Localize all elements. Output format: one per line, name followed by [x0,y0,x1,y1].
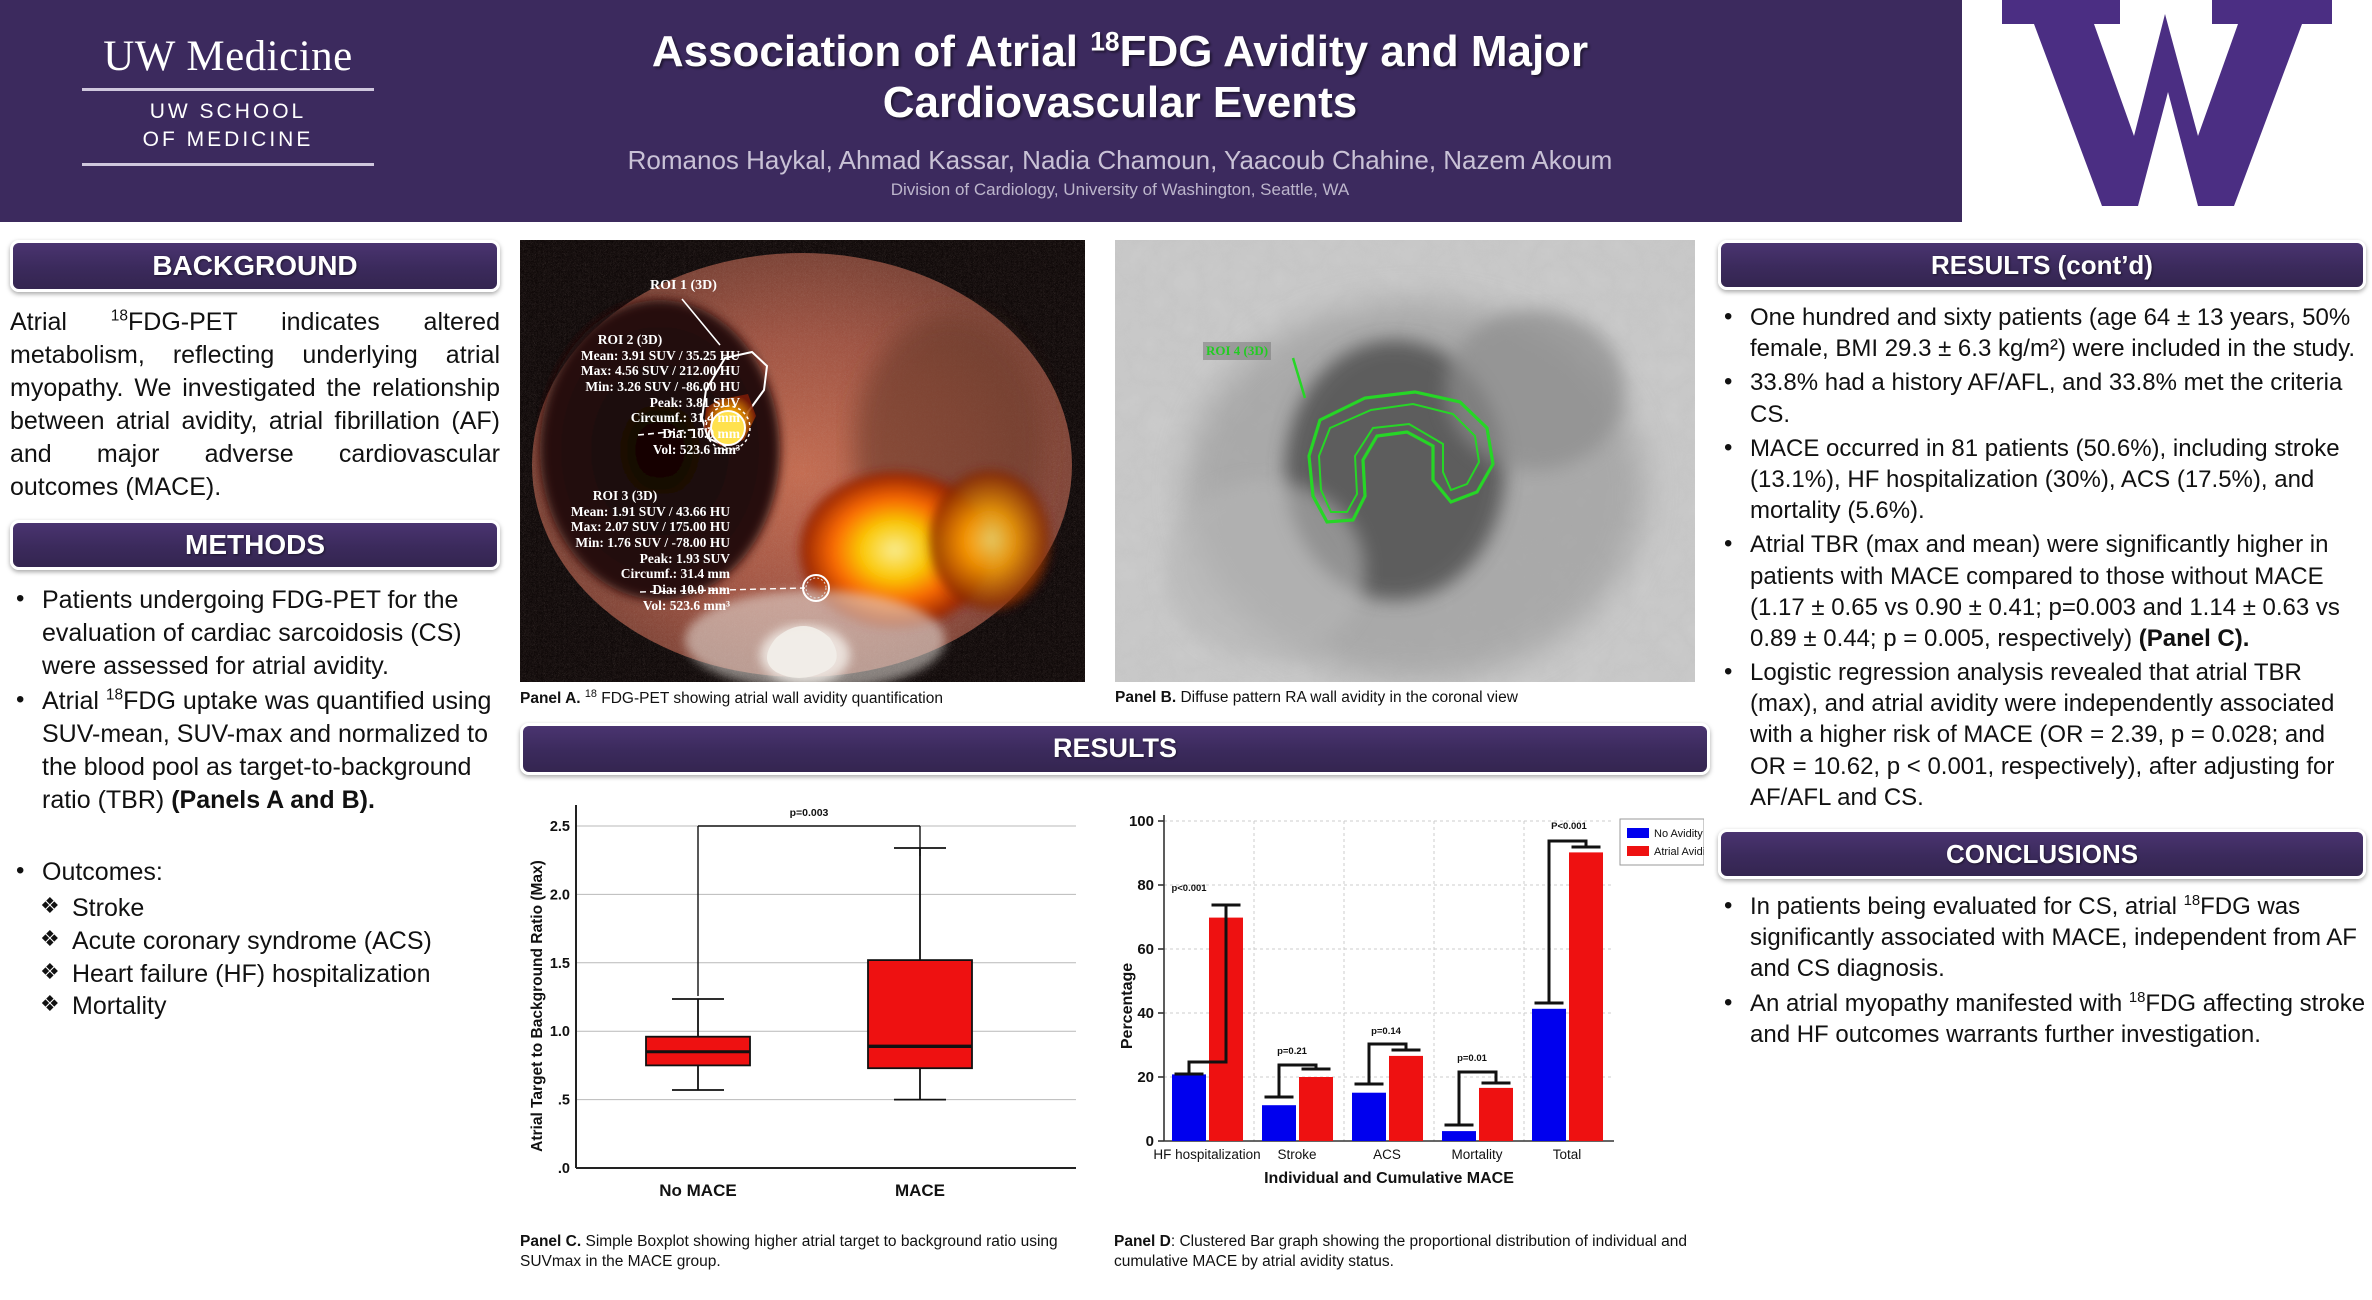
panel-d-chart: Percentage [1114,791,1704,1272]
roi3-max: Max: 2.07 SUV / 175.00 HU [520,519,730,535]
svg-text:20: 20 [1137,1069,1154,1086]
logo-divider-bottom [82,163,374,166]
methods-superscript-18: 18 [106,687,123,704]
roi2-title: ROI 2 (3D) [520,332,740,348]
panel-b-pet-image: ROI 4 (3D) [1115,240,1695,682]
results-bullet-5: Logistic regression analysis revealed th… [1718,657,2366,813]
svg-text:2.0: 2.0 [550,887,570,903]
svg-text:.5: .5 [558,1092,570,1108]
section-header-results-cont: RESULTS (cont’d) [1718,240,2366,290]
panel-a-wrapper: ROI 1 (3D) ROI 2 (3D) Mean: 3.91 SUV / 3… [520,240,1085,709]
roi2-circumf: Circumf.: 31.4 mm [520,410,740,426]
panel-d-caption: Panel D: Clustered Bar graph showing the… [1114,1232,1704,1272]
panel-d-p-hf: p<0.001 [1171,883,1207,894]
outcomes-sub-list: Stroke Acute coronary syndrome (ACS) Hea… [38,892,500,1023]
uw-medicine-wordmark: UW Medicine [78,32,378,81]
title-block: Association of Atrial 18FDG Avidity and … [520,26,1720,200]
roi3-mean: Mean: 1.91 SUV / 43.66 HU [520,504,730,520]
title-superscript-18: 18 [1090,26,1119,56]
panel-c-ylabel: Atrial Target to Background Ratio (Max) [529,860,546,1152]
methods-bullet-2-a: Atrial [42,687,106,715]
roi2-mean: Mean: 3.91 SUV / 35.25 HU [520,348,740,364]
methods-bullet-1: Patients undergoing FDG-PET for the eval… [10,584,500,682]
panel-b-caption: Panel B. Diffuse pattern RA wall avidity… [1115,688,1695,707]
roi3-vol: Vol: 523.6 mm³ [520,598,730,614]
outcome-item-acs: Acute coronary syndrome (ACS) [38,925,500,958]
roi2-vol: Vol: 523.6 mm³ [520,442,740,458]
panel-c-caption-bold: Panel C. [520,1233,581,1250]
section-header-conclusions: CONCLUSIONS [1718,829,2366,879]
poster-header: UW Medicine UW SCHOOL OF MEDICINE Associ… [0,0,1962,222]
methods-panels-ref: (Panels A and B). [171,786,375,814]
panel-a-caption-sup: 18 [585,688,597,700]
legend-label-atrial-avidity: Atrial Avidity [1654,846,1704,858]
section-header-methods: METHODS [10,520,500,570]
panel-c-xtick-mace: MACE [895,1181,945,1200]
panel-c-box-mace [868,848,972,1100]
panel-a-caption: Panel A. 18 FDG-PET showing atrial wall … [520,688,1085,709]
svg-text:.0: .0 [558,1161,570,1177]
section-header-results: RESULTS [520,723,1710,775]
legend-swatch-no-avidity [1627,828,1649,838]
title-part-1: Association of Atrial [652,27,1090,76]
bar-stroke-no-avidity [1262,1105,1296,1141]
outcomes-label: Outcomes: [10,856,500,889]
boxplot-svg: Atrial Target to Background Ratio (Max) [520,791,1100,1221]
panel-d-p-mortality: p=0.01 [1457,1053,1488,1064]
results-bullet-3: MACE occurred in 81 patients (50.6%), in… [1718,433,2366,527]
bar-total-atrial-avidity [1569,852,1603,1141]
panel-d-caption-rest: : Clustered Bar graph showing the propor… [1114,1233,1687,1270]
panel-c-pvalue-label: p=0.003 [790,807,829,819]
svg-text:ACS: ACS [1373,1147,1401,1162]
uw-school-line1: UW SCHOOL [78,100,378,124]
results-cont-bullet-list: One hundred and sixty patients (age 64 ±… [1718,302,2366,813]
results-bullet-1: One hundred and sixty patients (age 64 ±… [1718,302,2366,364]
uw-w-logo-box [1962,0,2372,222]
svg-text:60: 60 [1137,941,1154,958]
panel-b-wrapper: ROI 4 (3D) Panel B. Diffuse pattern RA w… [1115,240,1695,709]
poster-root: UW Medicine UW SCHOOL OF MEDICINE Associ… [0,0,2372,1300]
roi2-dia: Dia: 10.0 mm [520,426,740,442]
roi3-title: ROI 3 (3D) [520,488,730,504]
svg-text:100: 100 [1129,813,1154,830]
bar-total-no-avidity [1532,1008,1566,1140]
panel-b-caption-bold: Panel B. [1115,689,1176,706]
svg-text:Mortality: Mortality [1451,1147,1502,1162]
panel-a-caption-bold: Panel A. [520,690,581,707]
section-header-background: BACKGROUND [10,240,500,292]
author-list: Romanos Haykal, Ahmad Kassar, Nadia Cham… [520,145,1720,176]
uw-school-line2: OF MEDICINE [78,128,378,152]
bar-stroke-atrial-avidity [1299,1077,1333,1141]
conclusions-bullet-list: In patients being evaluated for CS, atri… [1718,891,2366,1050]
background-text-a: Atrial [10,308,111,336]
roi1-label: ROI 1 (3D) [650,278,717,294]
svg-text:1.0: 1.0 [550,1024,570,1040]
outcomes-block: Outcomes: Stroke Acute coronary syndrome… [10,856,500,1023]
charts-row: Atrial Target to Background Ratio (Max) [520,791,1710,1272]
background-superscript-18: 18 [111,308,128,325]
panel-c-chart: Atrial Target to Background Ratio (Max) [520,791,1100,1272]
coronal-pet-rendering [1115,240,1695,682]
clustered-bar-svg: Percentage [1114,791,1704,1221]
results-bullet-4: Atrial TBR (max and mean) were significa… [1718,529,2366,654]
roi2-min: Min: 3.26 SUV / -86.00 HU [520,379,740,395]
roi3-dia: Dia: 10.0 mm [520,582,730,598]
svg-text:HF hospitalization: HF hospitalization [1153,1147,1260,1162]
svg-text:Stroke: Stroke [1277,1147,1316,1162]
results-bullet-4-panel-ref: (Panel C). [2139,625,2250,652]
outcome-item-mortality: Mortality [38,990,500,1023]
methods-bullet-2: Atrial 18FDG uptake was quantified using… [10,685,500,816]
panel-c-caption: Panel C. Simple Boxplot showing higher a… [520,1232,1100,1272]
roi2-annotation-block: ROI 2 (3D) Mean: 3.91 SUV / 35.25 HU Max… [520,332,740,457]
right-column: RESULTS (cont’d) One hundred and sixty p… [1718,240,2366,1053]
svg-text:2.5: 2.5 [550,819,570,835]
legend-label-no-avidity: No Avidity [1654,828,1703,840]
poster-title: Association of Atrial 18FDG Avidity and … [520,26,1720,129]
panel-images-row: ROI 1 (3D) ROI 2 (3D) Mean: 3.91 SUV / 3… [520,240,1710,709]
svg-text:1.5: 1.5 [550,955,570,971]
title-line-2: Cardiovascular Events [883,78,1357,127]
background-text: Atrial 18FDG-PET indicates altered metab… [10,306,500,504]
conclusion-2-sup: 18 [2129,990,2146,1006]
roi4-label: ROI 4 (3D) [1203,342,1271,360]
conclusion-bullet-1: In patients being evaluated for CS, atri… [1718,891,2366,985]
bar-hf-no-avidity [1172,1074,1206,1141]
panel-d-p-acs: p=0.14 [1371,1026,1402,1037]
bar-acs-atrial-avidity [1389,1055,1423,1140]
uw-w-logo-icon [2002,0,2332,206]
left-column: BACKGROUND Atrial 18FDG-PET indicates al… [10,240,500,1023]
conclusion-bullet-2: An atrial myopathy manifested with 18FDG… [1718,988,2366,1050]
panel-d-caption-bold: Panel D [1114,1233,1171,1250]
panel-c-ytick-labels: .0 .5 1.0 1.5 2.0 2.5 [550,819,570,1177]
panel-d-ylabel: Percentage [1119,962,1136,1048]
panel-d-xtick-labels: HF hospitalization Stroke ACS Mortality … [1153,1147,1581,1162]
legend-swatch-atrial-avidity [1627,846,1649,856]
panel-d-p-stroke: p=0.21 [1277,1046,1308,1057]
pet-ct-rendering [520,240,1085,682]
panel-d-legend: No Avidity Atrial Avidity [1620,819,1704,865]
methods-bullet-list: Patients undergoing FDG-PET for the eval… [10,584,500,816]
conclusion-1-sup: 18 [2184,893,2201,909]
conclusion-1-a: In patients being evaluated for CS, atri… [1750,893,2184,920]
bar-mortality-atrial-avidity [1479,1087,1513,1140]
panel-b-caption-rest: Diffuse pattern RA wall avidity in the c… [1176,689,1518,706]
panel-d-p-total: P<0.001 [1551,821,1587,832]
roi2-peak: Peak: 3.81 SUV [520,395,740,411]
bar-mortality-no-avidity [1442,1131,1476,1141]
roi2-max: Max: 4.56 SUV / 212.00 HU [520,363,740,379]
panel-d-xlabel: Individual and Cumulative MACE [1264,1170,1514,1187]
svg-text:Total: Total [1553,1147,1582,1162]
bar-acs-no-avidity [1352,1092,1386,1140]
results-bullet-2: 33.8% had a history AF/AFL, and 33.8% me… [1718,367,2366,429]
svg-text:80: 80 [1137,877,1154,894]
affiliation: Division of Cardiology, University of Wa… [520,180,1720,200]
panel-a-caption-rest: FDG-PET showing atrial wall avidity quan… [597,690,943,707]
title-part-2: FDG Avidity and Major [1120,27,1589,76]
outcomes-bullet-list: Outcomes: [10,856,500,889]
roi3-min: Min: 1.76 SUV / -78.00 HU [520,535,730,551]
roi3-circumf: Circumf.: 31.4 mm [520,566,730,582]
svg-text:40: 40 [1137,1005,1154,1022]
uw-medicine-logo: UW Medicine UW SCHOOL OF MEDICINE [78,32,378,166]
panel-c-caption-rest: Simple Boxplot showing higher atrial tar… [520,1233,1058,1270]
outcome-item-stroke: Stroke [38,892,500,925]
outcome-item-hf: Heart failure (HF) hospitalization [38,958,500,991]
roi3-annotation-block: ROI 3 (3D) Mean: 1.91 SUV / 43.66 HU Max… [520,488,730,613]
conclusion-2-a: An atrial myopathy manifested with [1750,990,2129,1017]
panel-c-box-no-mace [646,999,750,1090]
logo-divider-top [82,88,374,91]
panel-d-y-ticks [1158,821,1164,1141]
background-text-b: FDG-PET indicates altered metabolism, re… [10,308,500,501]
roi3-peak: Peak: 1.93 SUV [520,551,730,567]
panel-c-xtick-no-mace: No MACE [659,1181,736,1200]
center-column: ROI 1 (3D) ROI 2 (3D) Mean: 3.91 SUV / 3… [520,240,1710,1272]
panel-a-pet-image: ROI 1 (3D) ROI 2 (3D) Mean: 3.91 SUV / 3… [520,240,1085,682]
results-bullet-4-a: Atrial TBR (max and mean) were significa… [1750,531,2340,652]
